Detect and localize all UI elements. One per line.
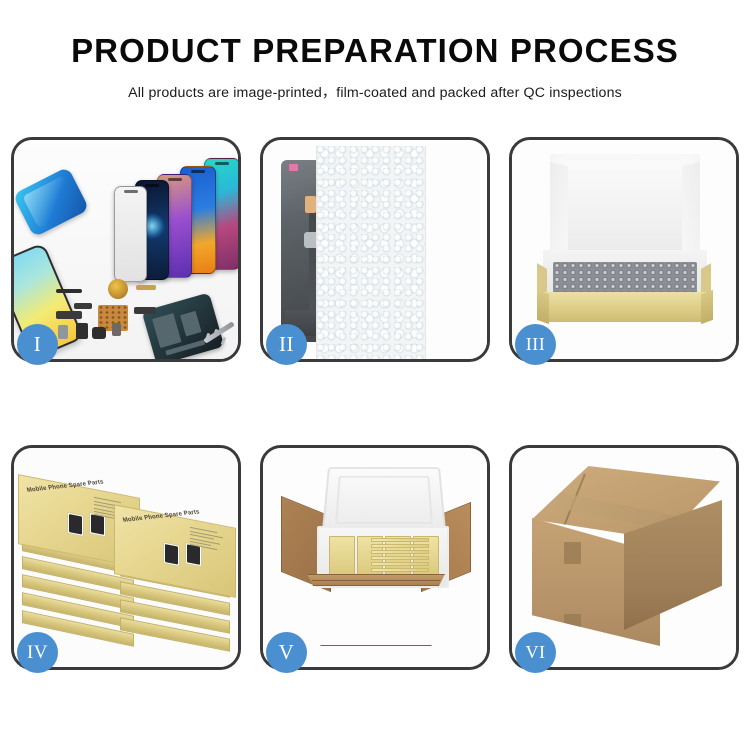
copper-coil-icon [108,279,128,299]
yellow-boxes-stacked-icon [371,538,429,576]
earpiece-mesh-icon [56,289,82,293]
foam-lid-icon [322,467,447,534]
product-preparation-infographic: PRODUCT PREPARATION PROCESS All products… [0,0,750,750]
sim-tray-icon [58,325,68,339]
process-steps-grid: I II [11,137,739,670]
step-badge-3: III [515,324,556,365]
step-badge-6: VI [515,632,556,673]
bubble-wrap-bag-icon [316,146,426,359]
step-panel-5: V [260,445,490,670]
step-panel-2: II [260,137,490,362]
step-panel-3: III [509,137,739,362]
header: PRODUCT PREPARATION PROCESS All products… [0,0,750,102]
page-title: PRODUCT PREPARATION PROCESS [0,34,750,69]
flex-cable-3-icon [134,307,156,314]
flat-kraft-box-icon [536,154,712,339]
step-badge-2: II [266,324,307,365]
flex-cable-2-icon [136,285,156,290]
spare-parts-group [50,279,200,351]
step-panel-4: Mobile Phone Spare Parts Mobile Phone Sp… [11,445,241,670]
sealed-carton-icon [528,466,724,650]
open-carton-icon [279,464,473,650]
step-badge-1: I [17,324,58,365]
box-front-panel-icon [541,292,709,322]
step-badge-5: V [266,632,307,673]
battery-connector-icon [112,323,121,336]
phone-fan-group [92,156,238,276]
phone-1-screen-protector-icon [114,186,147,282]
tape-1-icon [305,196,316,213]
step-panel-1: I [11,137,241,362]
carton-front-icon [303,580,449,646]
page-subtitle: All products are image-printed，film-coat… [0,82,750,102]
blue-protective-film-icon [14,167,90,238]
pink-label-icon [289,164,298,171]
flex-cable-1-icon [56,311,82,319]
step-panel-6: VI [509,445,739,670]
small-part-1-icon [76,323,88,339]
box-stack-icon: Mobile Phone Spare Parts Mobile Phone Sp… [16,464,236,664]
speaker-icon [92,327,106,339]
flex-cable-4-icon [74,303,92,309]
step-badge-4: IV [17,632,58,673]
bubble-wrapped-item-icon [553,262,697,296]
